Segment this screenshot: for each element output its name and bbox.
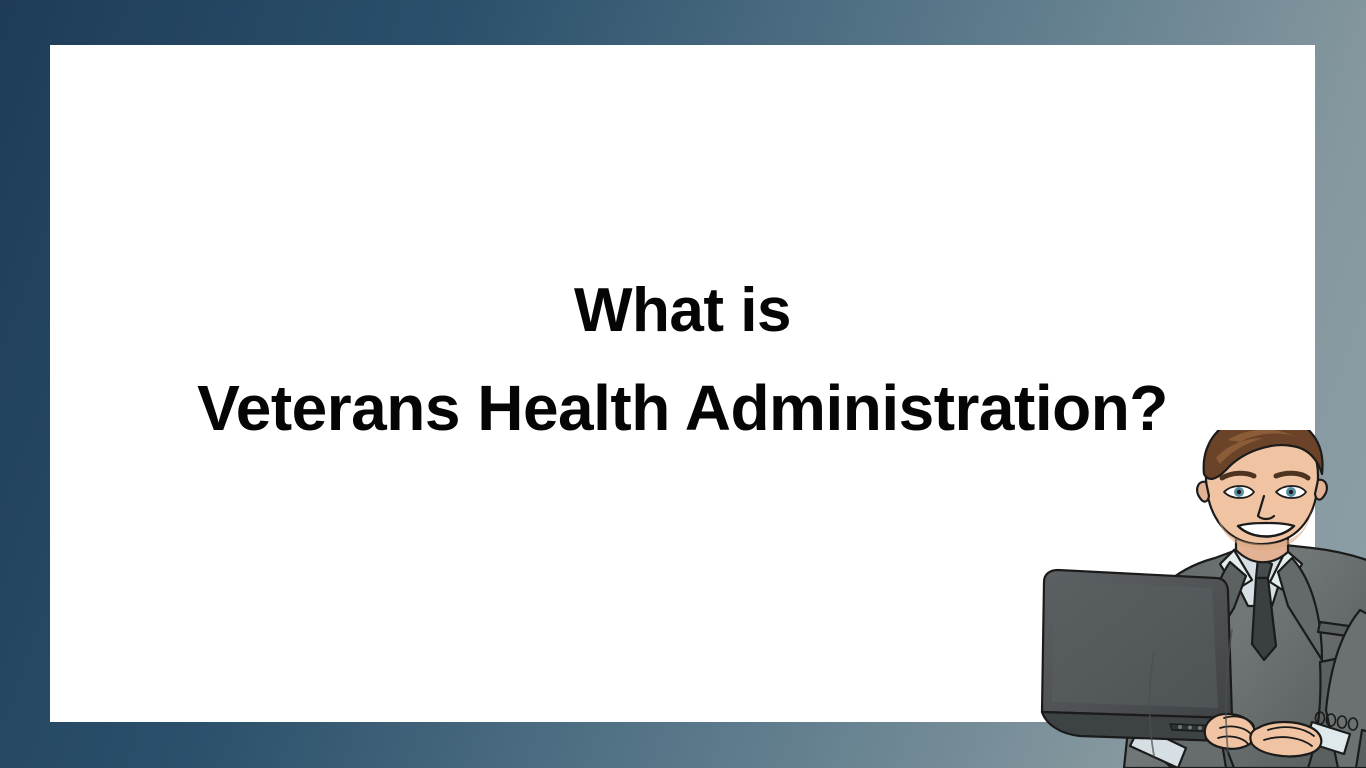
cuff-buttons [1316, 712, 1358, 730]
cuff-sleeve-right [1356, 730, 1366, 768]
title-line-2: Veterans Health Administration? [50, 376, 1315, 440]
hand-right [1250, 722, 1321, 756]
arm-right [1326, 610, 1366, 768]
slide-canvas: What is Veterans Health Administration? [0, 0, 1366, 768]
chest-pocket [1318, 622, 1366, 640]
title-line-1: What is [50, 280, 1315, 342]
ear-right [1315, 480, 1327, 500]
laptop-keyboard [1170, 724, 1222, 732]
cuff-left [1130, 726, 1186, 768]
title-block: What is Veterans Health Administration? [50, 280, 1315, 440]
cuff-right [1306, 722, 1350, 754]
